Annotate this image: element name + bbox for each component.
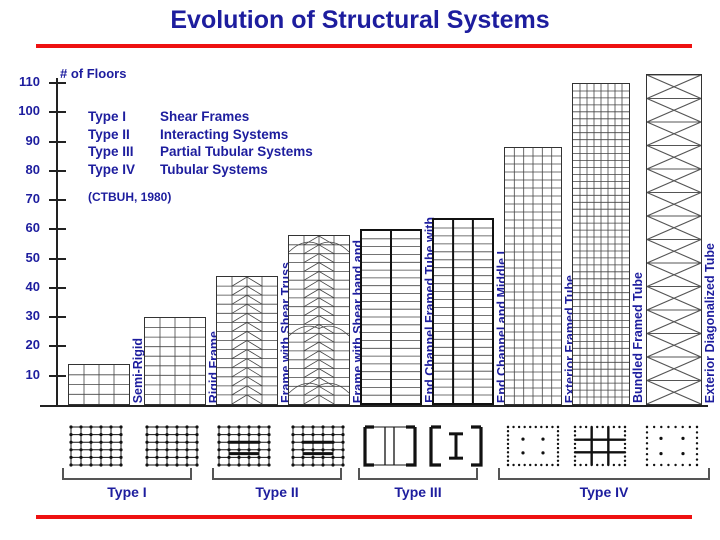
y-tick-label: 80 — [0, 162, 40, 177]
y-tick — [49, 345, 66, 347]
y-tick-label: 70 — [0, 191, 40, 206]
y-tick — [49, 170, 66, 172]
bar-3 — [216, 276, 278, 405]
legend-desc: Tubular Systems — [160, 161, 268, 179]
legend-desc: Shear Frames — [160, 108, 249, 126]
plan-icon-diag-plan — [644, 424, 700, 468]
y-tick-label: 100 — [0, 103, 40, 118]
type-caption-2: Type II — [212, 484, 342, 500]
legend-row: Type II Interacting Systems — [88, 126, 313, 144]
legend-type: Type I — [88, 108, 160, 126]
y-tick — [49, 258, 66, 260]
plan-icon-bundled-plan — [572, 424, 628, 468]
plan-icon-grid-plan — [68, 424, 124, 468]
bar-label-8: Bundled Framed Tube — [632, 272, 646, 403]
page-title: Evolution of Structural Systems — [0, 6, 720, 35]
type-bracket-3 — [358, 468, 478, 480]
bar-7 — [504, 147, 562, 405]
bar-4 — [288, 235, 350, 405]
type-caption-4: Type IV — [498, 484, 710, 500]
y-tick-label: 90 — [0, 133, 40, 148]
y-tick-label: 110 — [0, 74, 40, 89]
legend-type: Type III — [88, 143, 160, 161]
y-tick — [49, 82, 66, 84]
type-bracket-1 — [62, 468, 192, 480]
type-caption-1: Type I — [62, 484, 192, 500]
legend-desc: Interacting Systems — [160, 126, 288, 144]
bar-1 — [68, 364, 130, 405]
legend-row: Type IV Tubular Systems — [88, 161, 313, 179]
y-tick — [49, 375, 66, 377]
bar-9 — [646, 74, 702, 405]
legend-row: Type III Partial Tubular Systems — [88, 143, 313, 161]
bar-6 — [432, 218, 494, 405]
y-tick — [49, 141, 66, 143]
slide-root: Evolution of Structural Systems 10203040… — [0, 0, 720, 540]
y-tick-label: 60 — [0, 220, 40, 235]
y-tick — [49, 316, 66, 318]
legend-block: Type I Shear Frames Type II Interacting … — [88, 108, 313, 207]
legend-row: Type I Shear Frames — [88, 108, 313, 126]
legend-type: Type IV — [88, 161, 160, 179]
bar-2 — [144, 317, 206, 405]
bar-5 — [360, 229, 422, 405]
y-tick — [49, 228, 66, 230]
y-tick — [49, 287, 66, 289]
title-rule-top — [36, 44, 692, 48]
footer-rule-bottom — [36, 515, 692, 519]
y-axis-caption: # of Floors — [60, 66, 126, 81]
plan-icon-grid-plan-band — [290, 424, 346, 468]
legend-source: (CTBUH, 1980) — [88, 189, 313, 207]
plan-icon-channel-plan — [362, 424, 418, 468]
plan-icon-channel-i-plan — [428, 424, 484, 468]
y-tick — [49, 199, 66, 201]
plan-icon-grid-plan-band — [216, 424, 272, 468]
y-tick-label: 40 — [0, 279, 40, 294]
y-tick-label: 10 — [0, 367, 40, 382]
y-tick-label: 50 — [0, 250, 40, 265]
y-tick-label: 30 — [0, 308, 40, 323]
y-tick — [49, 111, 66, 113]
y-axis-ticks: 102030405060708090100110 — [0, 0, 56, 540]
plan-icon-tube-plan — [505, 424, 561, 468]
type-caption-3: Type III — [358, 484, 478, 500]
type-bracket-4 — [498, 468, 710, 480]
y-tick-label: 20 — [0, 337, 40, 352]
type-bracket-2 — [212, 468, 342, 480]
legend-desc: Partial Tubular Systems — [160, 143, 313, 161]
y-axis-line — [56, 78, 58, 407]
bar-8 — [572, 83, 630, 405]
legend-type: Type II — [88, 126, 160, 144]
plan-icon-grid-plan — [144, 424, 200, 468]
bar-label-9: Exterior Diagonalized Tube — [704, 243, 718, 403]
